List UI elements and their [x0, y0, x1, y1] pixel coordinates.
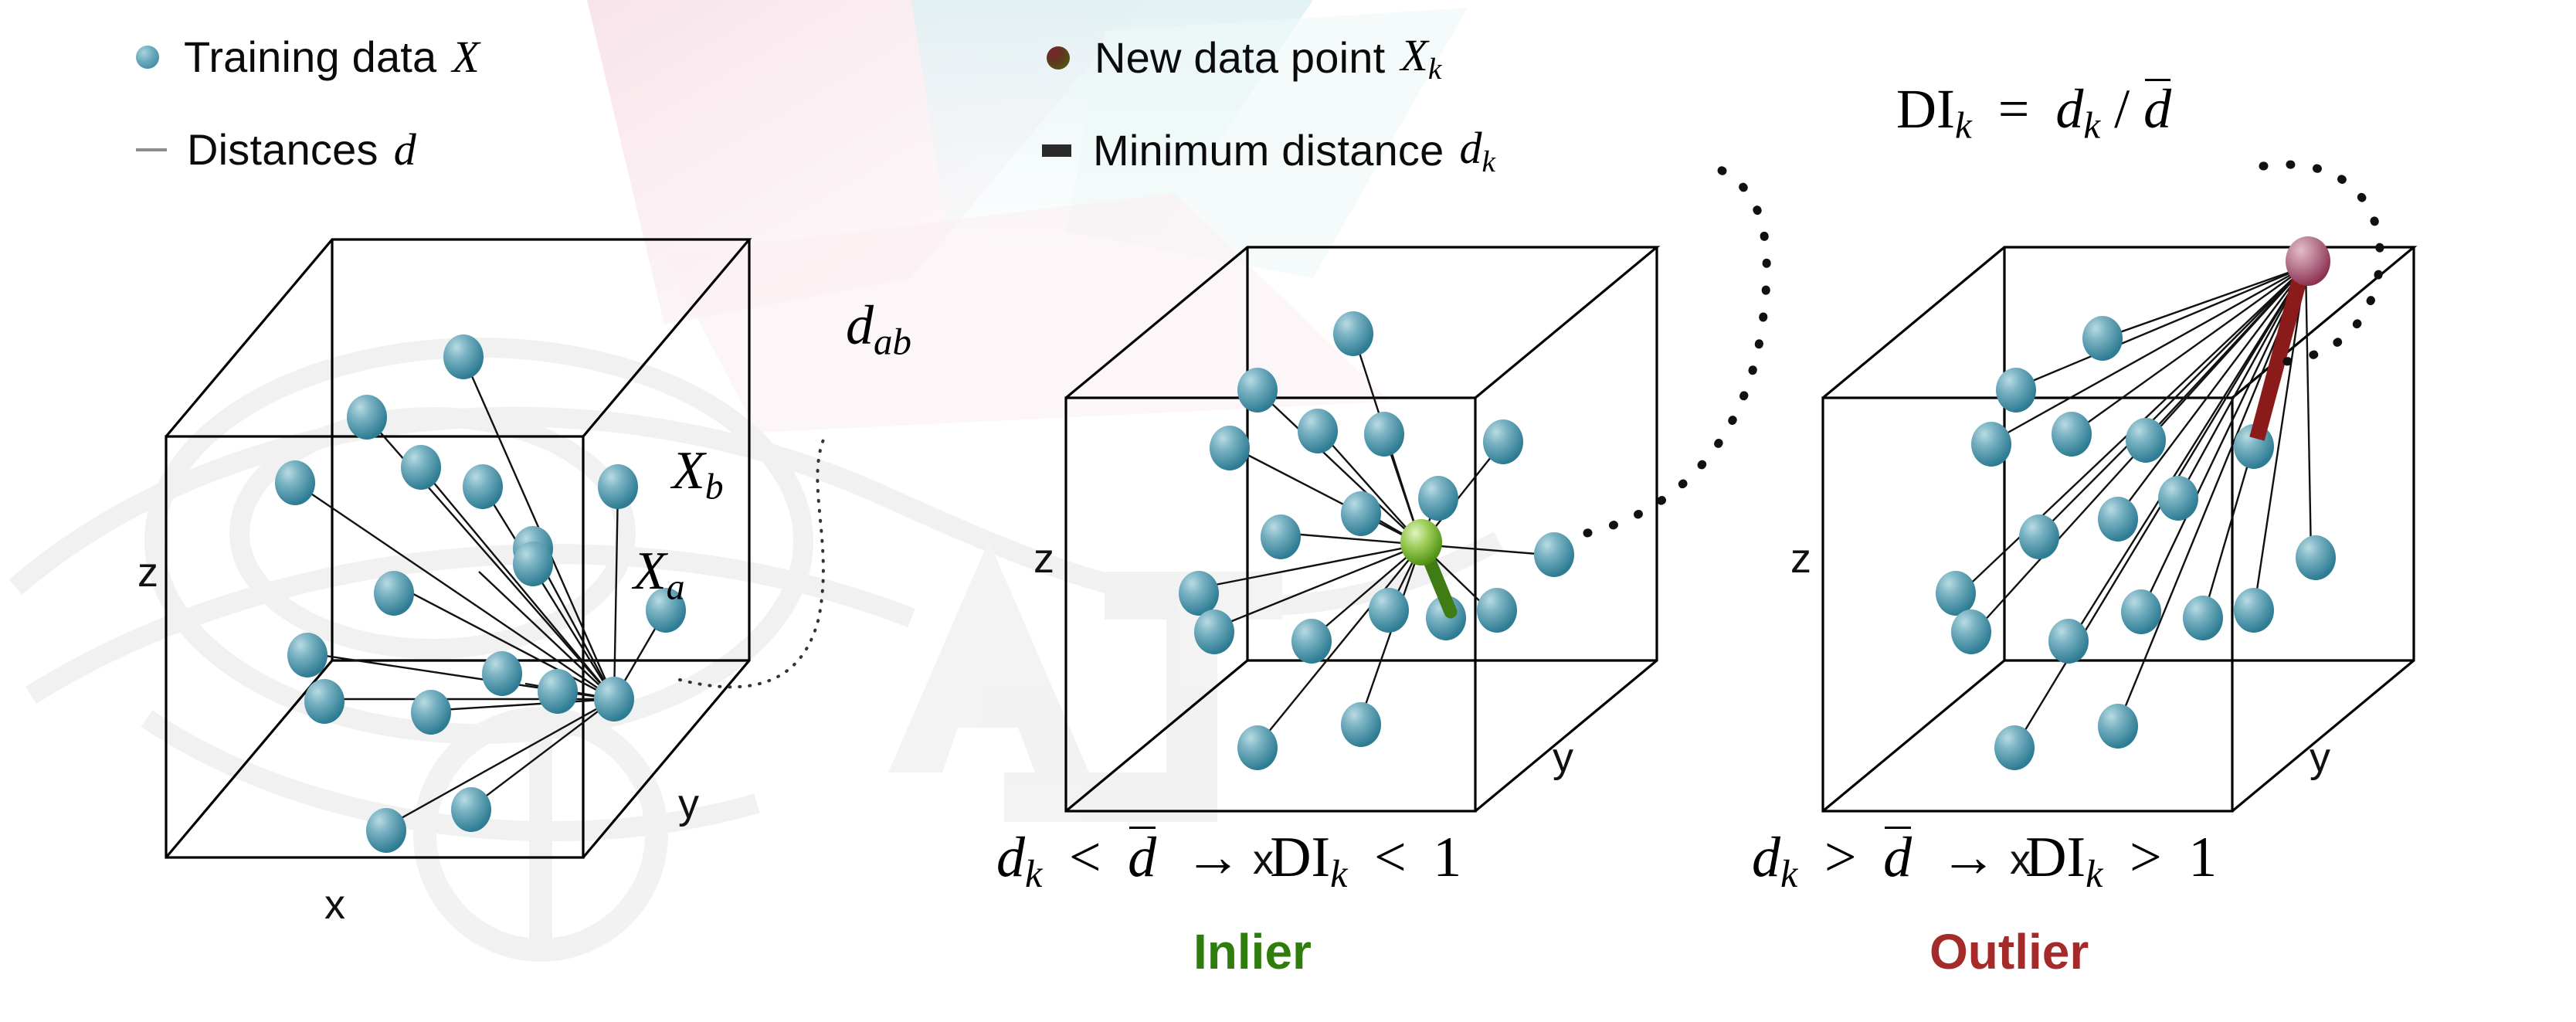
legend-symbol-distances: d	[394, 124, 416, 175]
new-data-point-inlier	[1400, 519, 1442, 565]
point-label-xb: Xb	[672, 440, 724, 508]
minimum-distance-marker-icon	[1042, 144, 1071, 157]
training-data-marker-icon	[136, 46, 159, 69]
legend-label-training-data: Training data	[184, 36, 436, 79]
axis-label-z-outlier: z	[1790, 535, 1811, 582]
axis-label-x-training: x	[324, 881, 345, 929]
axis-label-y-outlier: y	[2310, 734, 2330, 782]
distances-marker-icon	[136, 148, 167, 151]
axis-label-z-training: z	[137, 548, 158, 596]
cube-outlier	[1823, 165, 2414, 811]
axis-label-z-inlier: z	[1033, 535, 1054, 582]
axis-label-y-inlier: y	[1553, 734, 1573, 782]
training-points	[275, 334, 686, 853]
verdict-inlier: Inlier	[1193, 923, 1312, 980]
legend-label-distances: Distances	[187, 128, 378, 171]
legend-label-new-data-point: New data point	[1095, 36, 1385, 80]
axis-label-y-training: y	[678, 780, 699, 828]
legend-symbol-minimum-distance: dk	[1459, 122, 1495, 179]
focus-point-xa	[594, 677, 634, 722]
verdict-outlier: Outlier	[1929, 923, 2089, 980]
legend-item-new-data-point: New data point Xk	[1047, 29, 1441, 87]
distance-callout-dab: dab	[846, 294, 911, 364]
legend-symbol-training-data: X	[452, 31, 479, 83]
distance-lines	[1960, 267, 2311, 748]
legend-item-training-data: Training data X	[136, 31, 480, 83]
di-formula: DIk = dk / d	[1896, 77, 2171, 148]
caption-outlier: dk > d → DIk > 1	[1752, 825, 2217, 896]
cube-training	[166, 239, 826, 857]
legend-symbol-new-data-point: Xk	[1400, 29, 1441, 87]
point-label-xa: Xa	[633, 541, 685, 608]
legend-label-minimum-distance: Minimum distance	[1093, 129, 1444, 172]
callout-leader-di-left	[1587, 162, 1767, 533]
legend-item-distances: Distances d	[136, 124, 416, 175]
legend-item-minimum-distance: Minimum distance dk	[1042, 122, 1495, 179]
caption-inlier: dk < d → DIk < 1	[996, 825, 1461, 896]
new-data-point-marker-icon	[1047, 46, 1070, 70]
cube-inlier	[1066, 162, 1767, 811]
minimum-distance-line	[2257, 277, 2300, 439]
diagram-canvas: Training data X Distances d New data poi…	[0, 0, 2576, 1022]
new-data-point-outlier	[2286, 236, 2330, 286]
